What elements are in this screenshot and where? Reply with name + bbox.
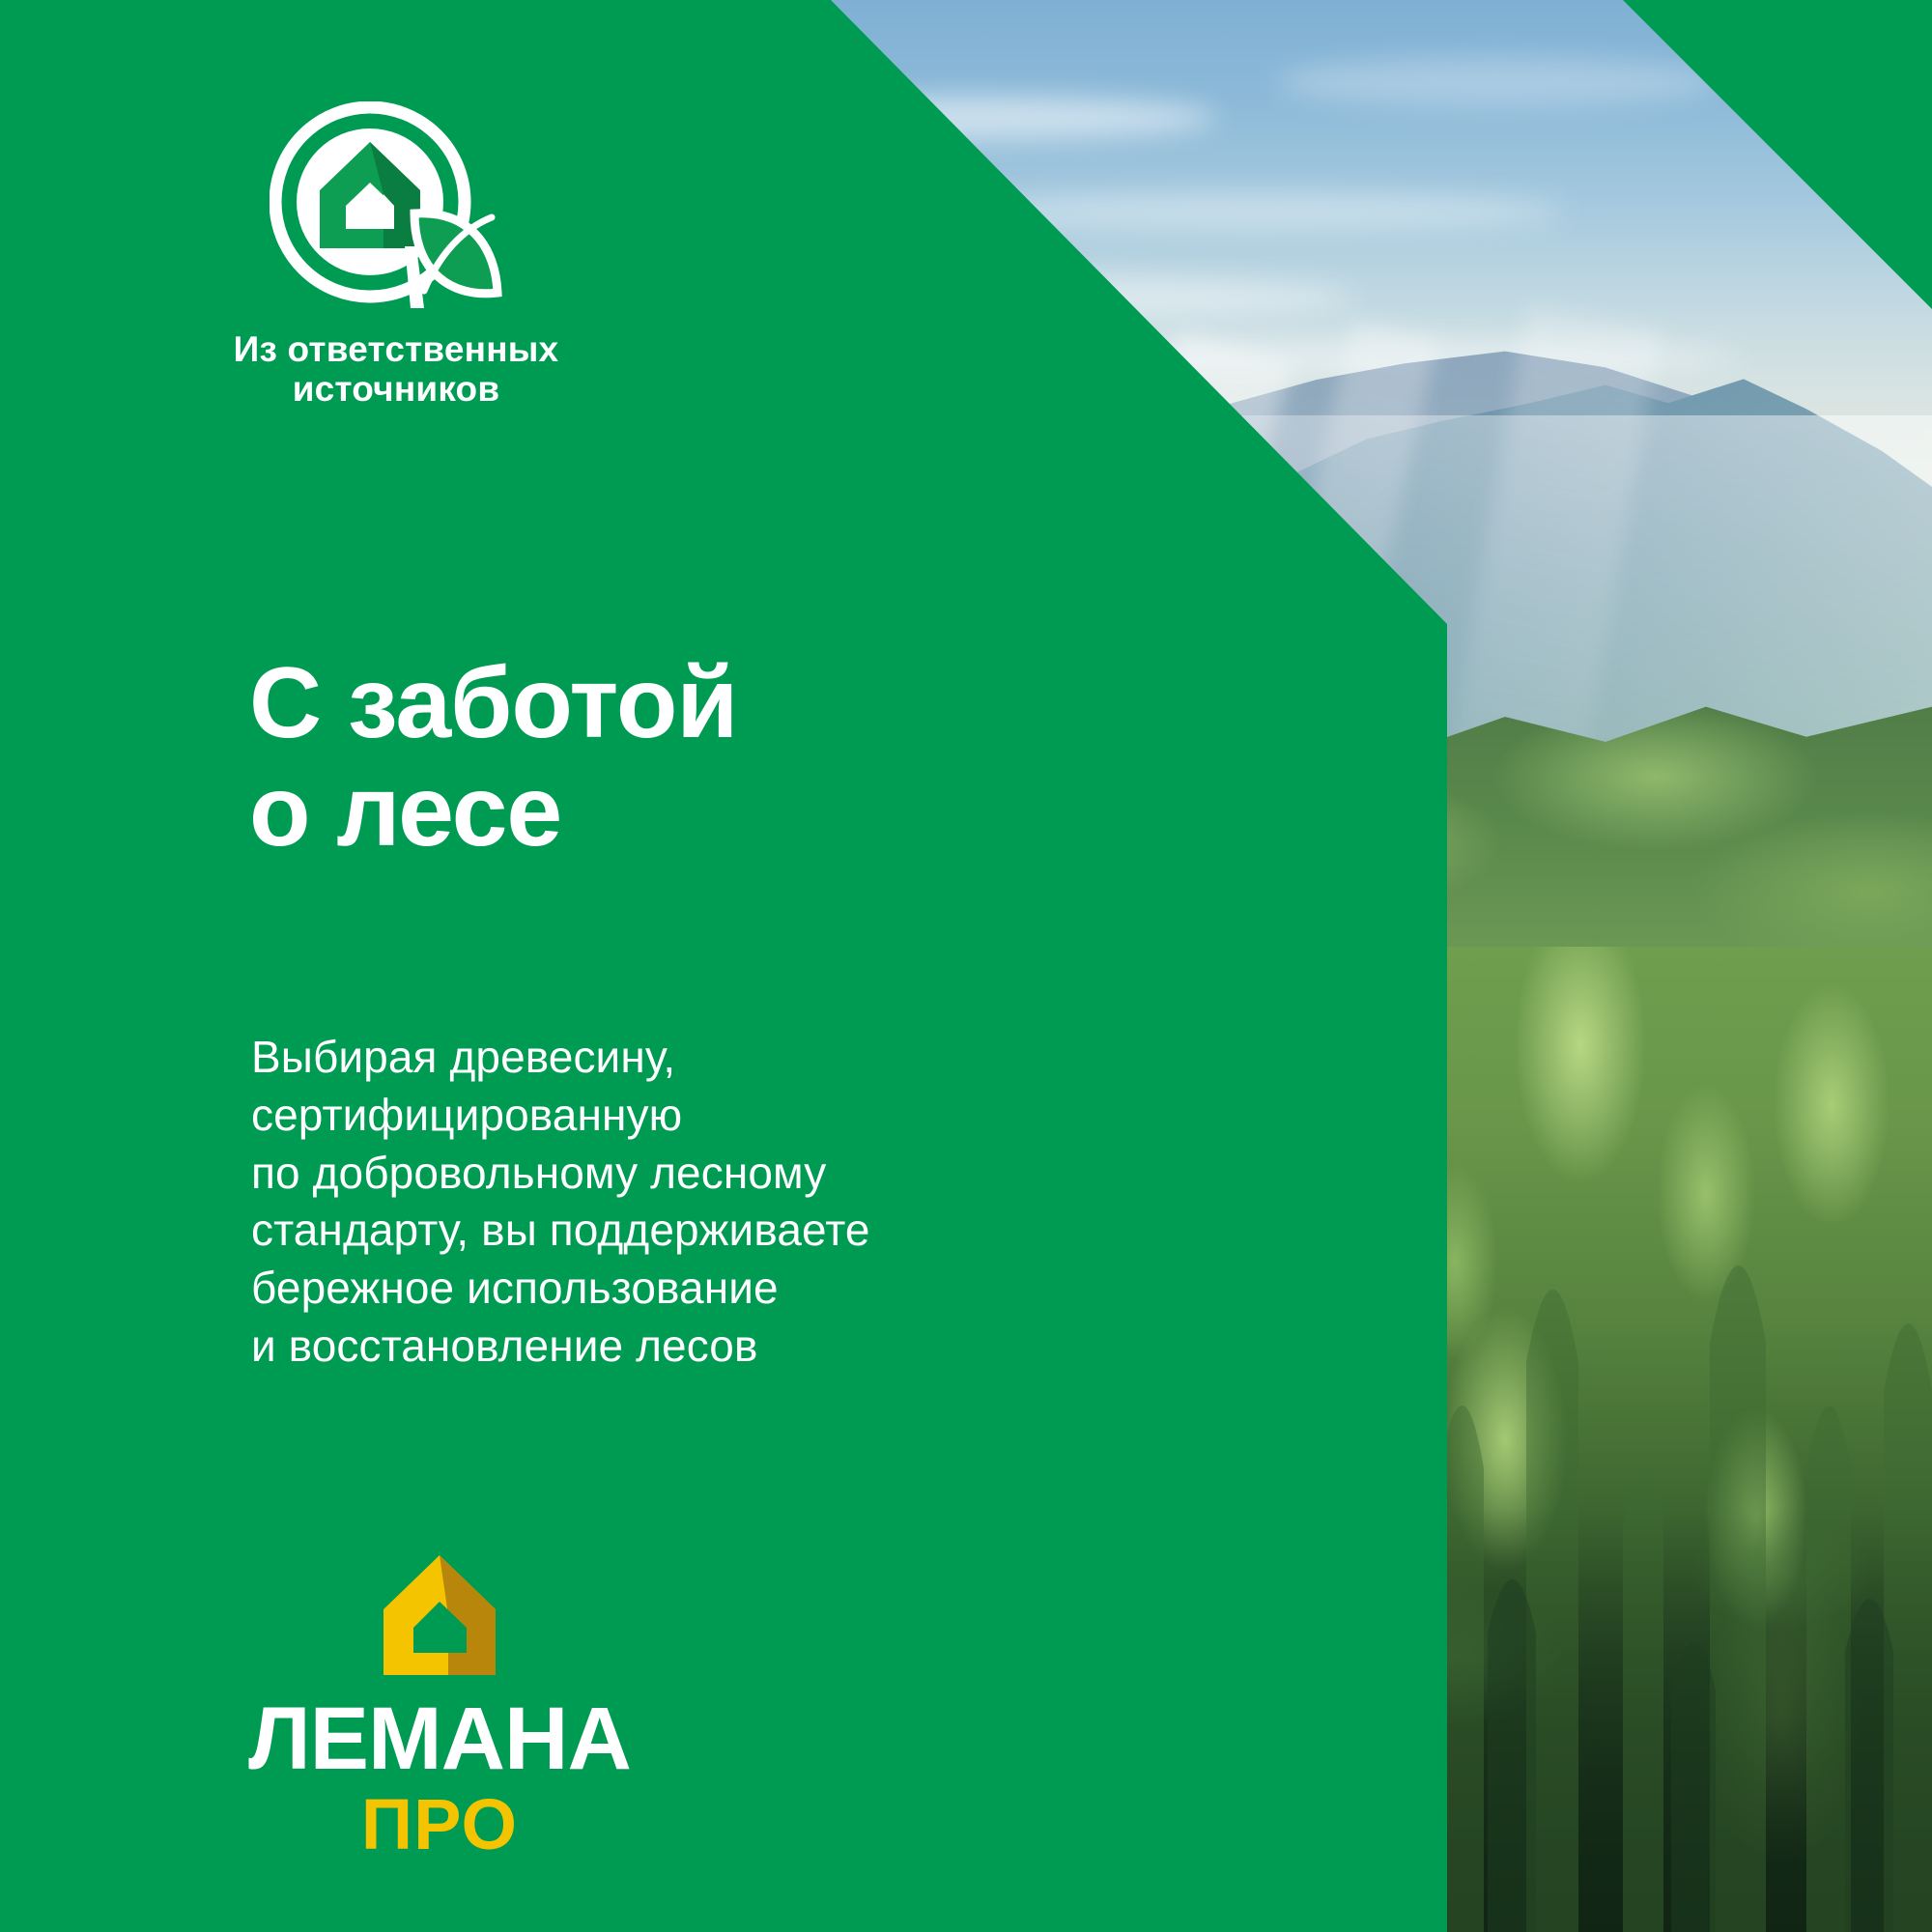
headline-line2: о лесе <box>249 757 737 866</box>
lemana-house-icon <box>381 1553 498 1677</box>
certification-caption-line1: Из ответственных <box>193 329 599 369</box>
certification-caption: Из ответственных источников <box>193 329 599 410</box>
headline-line1: С заботой <box>249 649 737 757</box>
body-line-1: Выбирая древесину, <box>251 1029 870 1087</box>
brand-lockup: ЛЕМАНА ПРО <box>246 1553 633 1861</box>
body-line-2: сертифицированную <box>251 1087 870 1145</box>
brand-sub: ПРО <box>246 1789 633 1861</box>
content-column: Из ответственных источников С заботой о … <box>0 0 1447 1932</box>
page-title: С заботой о лесе <box>249 649 737 867</box>
body-line-4: стандарту, вы поддерживаете <box>251 1202 870 1260</box>
brand-name: ЛЕМАНА <box>246 1694 633 1783</box>
body-line-5: бережное использование <box>251 1260 870 1318</box>
body-line-6: и восстановление лесов <box>251 1318 870 1376</box>
certification-caption-line2: источников <box>193 369 599 409</box>
house-in-circle-with-leaf-icon <box>270 101 523 316</box>
poster-root: Из ответственных источников С заботой о … <box>0 0 1932 1932</box>
body-copy: Выбирая древесину, сертифицированную по … <box>251 1029 870 1376</box>
certification-badge: Из ответственных источников <box>193 101 599 410</box>
body-line-3: по добровольному лесному <box>251 1145 870 1203</box>
